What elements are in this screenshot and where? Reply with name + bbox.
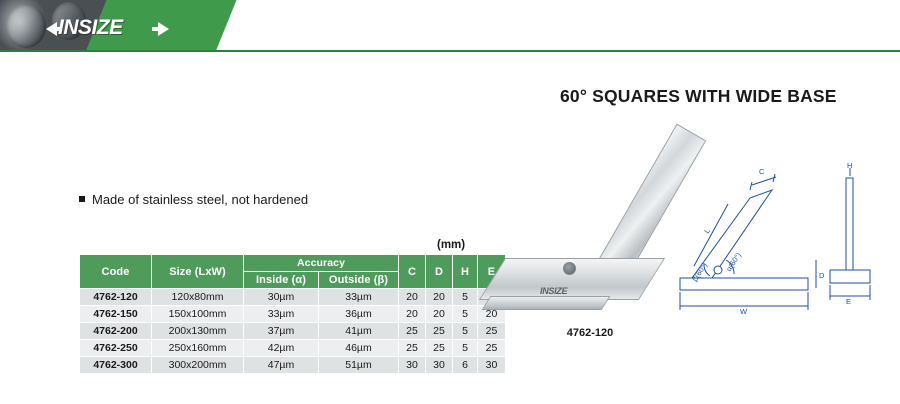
specification-table: Code Size (LxW) Accuracy C D H E Inside … bbox=[79, 254, 506, 374]
product-photo-caption: 4762-120 bbox=[530, 327, 650, 339]
cell-c: 25 bbox=[399, 323, 426, 340]
product-photo: INSIZE bbox=[480, 110, 690, 325]
cell-c: 25 bbox=[399, 340, 426, 357]
cell-inside: 42µm bbox=[244, 340, 319, 357]
table-row: 4762-300 300x200mm 47µm 51µm 30 30 6 30 bbox=[80, 357, 506, 374]
square-wide-base bbox=[482, 296, 611, 310]
cell-size: 150x100mm bbox=[152, 306, 244, 323]
cell-size: 200x130mm bbox=[152, 323, 244, 340]
insize-logo: INSIZE bbox=[44, 18, 174, 40]
drawing-label-c: C bbox=[759, 167, 765, 176]
logo-right-arrow-icon bbox=[158, 22, 169, 36]
square-pivot-hole-icon bbox=[563, 262, 576, 275]
cell-c: 20 bbox=[399, 289, 426, 306]
page-title: 60° SQUARES WITH WIDE BASE bbox=[560, 86, 837, 107]
col-header-h: H bbox=[453, 255, 478, 289]
unit-label: (mm) bbox=[437, 239, 465, 251]
cell-e: 30 bbox=[478, 357, 506, 374]
cell-h: 5 bbox=[453, 306, 478, 323]
cell-inside: 33µm bbox=[244, 306, 319, 323]
cell-d: 25 bbox=[426, 323, 453, 340]
page-root: INSIZE 60° SQUARES WITH WIDE BASE Made o… bbox=[0, 0, 900, 404]
cell-outside: 51µm bbox=[319, 357, 399, 374]
cell-c: 20 bbox=[399, 306, 426, 323]
cell-d: 20 bbox=[426, 289, 453, 306]
table-body: 4762-120 120x80mm 30µm 33µm 20 20 5 20 4… bbox=[80, 289, 506, 374]
cell-code: 4762-120 bbox=[80, 289, 152, 306]
brand-name: INSIZE bbox=[58, 16, 123, 40]
bullet-square-icon bbox=[79, 196, 85, 202]
cell-e: 25 bbox=[478, 323, 506, 340]
cell-h: 5 bbox=[453, 289, 478, 306]
table-head: Code Size (LxW) Accuracy C D H E Inside … bbox=[80, 255, 506, 289]
col-header-c: C bbox=[399, 255, 426, 289]
cell-size: 250x160mm bbox=[152, 340, 244, 357]
drawing-svg: C L W α(60°) β(60°) H E D bbox=[660, 160, 890, 340]
cell-code: 4762-250 bbox=[80, 340, 152, 357]
cell-inside: 30µm bbox=[244, 289, 319, 306]
drawing-label-e: E bbox=[846, 297, 851, 306]
table-header-row-1: Code Size (LxW) Accuracy C D H E bbox=[80, 255, 506, 272]
table-row: 4762-120 120x80mm 30µm 33µm 20 20 5 20 bbox=[80, 289, 506, 306]
table-row: 4762-200 200x130mm 37µm 41µm 25 25 5 25 bbox=[80, 323, 506, 340]
drawing-label-w: W bbox=[740, 307, 748, 316]
cell-d: 30 bbox=[426, 357, 453, 374]
cell-inside: 47µm bbox=[244, 357, 319, 374]
drawing-label-h: H bbox=[847, 161, 852, 170]
feature-note: Made of stainless steel, not hardened bbox=[79, 192, 308, 207]
col-header-inside: Inside (α) bbox=[244, 272, 319, 289]
cell-code: 4762-200 bbox=[80, 323, 152, 340]
cell-size: 300x200mm bbox=[152, 357, 244, 374]
table-row: 4762-150 150x100mm 33µm 36µm 20 20 5 20 bbox=[80, 306, 506, 323]
drawing-label-l: L bbox=[702, 227, 712, 235]
col-header-code: Code bbox=[80, 255, 152, 289]
cell-code: 4762-300 bbox=[80, 357, 152, 374]
cell-inside: 37µm bbox=[244, 323, 319, 340]
cell-outside: 33µm bbox=[319, 289, 399, 306]
technical-drawing: C L W α(60°) β(60°) H E D bbox=[660, 160, 890, 340]
cell-d: 25 bbox=[426, 340, 453, 357]
cell-h: 5 bbox=[453, 323, 478, 340]
cell-h: 6 bbox=[453, 357, 478, 374]
cell-d: 20 bbox=[426, 306, 453, 323]
cell-c: 30 bbox=[399, 357, 426, 374]
header-divider bbox=[0, 50, 900, 52]
page-header: INSIZE bbox=[0, 0, 900, 52]
col-header-outside: Outside (β) bbox=[319, 272, 399, 289]
cell-code: 4762-150 bbox=[80, 306, 152, 323]
cell-size: 120x80mm bbox=[152, 289, 244, 306]
cell-outside: 46µm bbox=[319, 340, 399, 357]
drawing-label-d: D bbox=[819, 271, 825, 280]
cell-e: 25 bbox=[478, 340, 506, 357]
col-header-accuracy: Accuracy bbox=[244, 255, 399, 272]
table-row: 4762-250 250x160mm 42µm 46µm 25 25 5 25 bbox=[80, 340, 506, 357]
cell-h: 5 bbox=[453, 340, 478, 357]
col-header-d: D bbox=[426, 255, 453, 289]
product-brand-mark: INSIZE bbox=[540, 286, 567, 296]
cell-outside: 41µm bbox=[319, 323, 399, 340]
feature-note-text: Made of stainless steel, not hardened bbox=[92, 192, 308, 207]
cell-outside: 36µm bbox=[319, 306, 399, 323]
col-header-size: Size (LxW) bbox=[152, 255, 244, 289]
